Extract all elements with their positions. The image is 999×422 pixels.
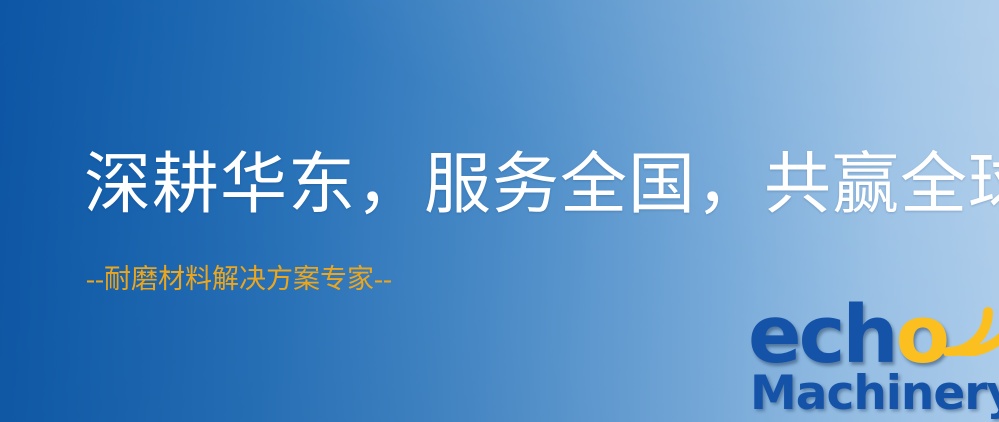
promo-banner: 深耕华东，服务全国，共赢全球 --耐磨材料解决方案专家-- echo Machi… (0, 0, 999, 422)
signal-wave-icon (934, 290, 999, 356)
logo-tagline: Machinery® (750, 370, 999, 417)
logo-tagline-text: Machinery (750, 366, 999, 421)
banner-headline: 深耕华东，服务全国，共赢全球 (84, 152, 999, 219)
banner-subtitle: --耐磨材料解决方案专家-- (86, 266, 392, 293)
company-logo[interactable]: echo Machinery® (748, 296, 999, 422)
logo-wordmark: echo (748, 296, 947, 375)
